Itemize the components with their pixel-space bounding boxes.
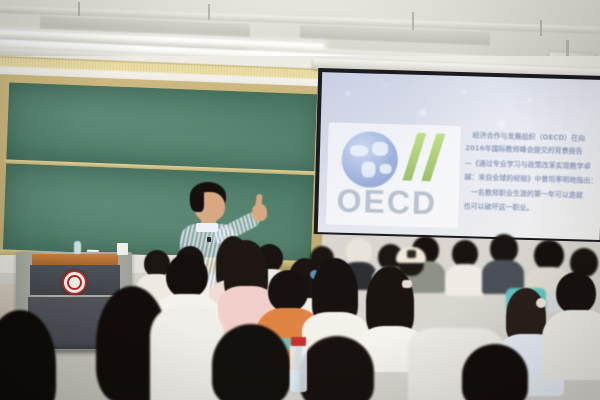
slide-text-line-6: 也可以破坏这一职业。 <box>463 201 533 213</box>
slide-text-line-3: —《通过专业学习与政策改革实现教学卓 <box>465 158 591 172</box>
oecd-wordmark: OECD <box>336 183 437 223</box>
head <box>556 272 596 314</box>
bokeh-dot <box>419 109 426 116</box>
bokeh-dot <box>384 84 387 87</box>
long-hair <box>0 310 56 400</box>
oecd-chevron-right-icon <box>421 133 445 181</box>
bokeh-dot <box>346 91 351 96</box>
light-hanger-3 <box>412 12 414 30</box>
light-hanger-4 <box>540 20 542 36</box>
hair-tie <box>536 298 546 308</box>
slide-text-line-4: 越：来自全球的经验》中曾坦率明地指出： <box>464 172 597 186</box>
hair-clip <box>402 280 412 288</box>
light-hanger-1 <box>78 2 80 16</box>
screen-border: OECD 经济合作与发展组织（OECD）在向 2016年国际教师峰会提交的背景报… <box>314 68 600 242</box>
globe-landmass <box>361 161 375 177</box>
bottle-cap <box>291 337 306 346</box>
oecd-globe-icon <box>341 131 399 189</box>
long-hair <box>300 336 374 400</box>
slide-text-line-5: 一名教师职业生涯的第一年可以造就 <box>471 187 583 200</box>
light-hanger-2 <box>208 4 210 20</box>
water-bottle <box>290 344 307 392</box>
bokeh-dot <box>497 119 506 128</box>
projection-screen: OECD 经济合作与发展组织（OECD）在向 2016年国际教师峰会提交的背景报… <box>318 72 600 240</box>
projector-mount <box>566 40 569 56</box>
globe-landmass <box>379 164 391 174</box>
lecture-hall-photo: OECD 经济合作与发展组织（OECD）在向 2016年国际教师峰会提交的背景报… <box>0 0 600 400</box>
globe-landmass <box>372 142 388 156</box>
head <box>166 254 208 298</box>
chalkboard-upper-panel <box>6 83 317 173</box>
long-hair <box>462 344 528 400</box>
bokeh-dot <box>527 98 532 103</box>
presenter-hair-side <box>190 190 204 212</box>
torso <box>542 310 600 380</box>
head <box>268 270 308 312</box>
slide-text-line-1: 经济合作与发展组织（OECD）在向 <box>472 130 585 143</box>
globe-landmass <box>350 145 368 156</box>
slide-text-line-2: 2016年国际教师峰会提交的背景报告 <box>465 143 583 156</box>
audience-front-row <box>0 250 600 400</box>
bokeh-dot <box>462 90 466 94</box>
oecd-logo-card: OECD <box>326 122 461 228</box>
long-hair <box>212 324 290 400</box>
